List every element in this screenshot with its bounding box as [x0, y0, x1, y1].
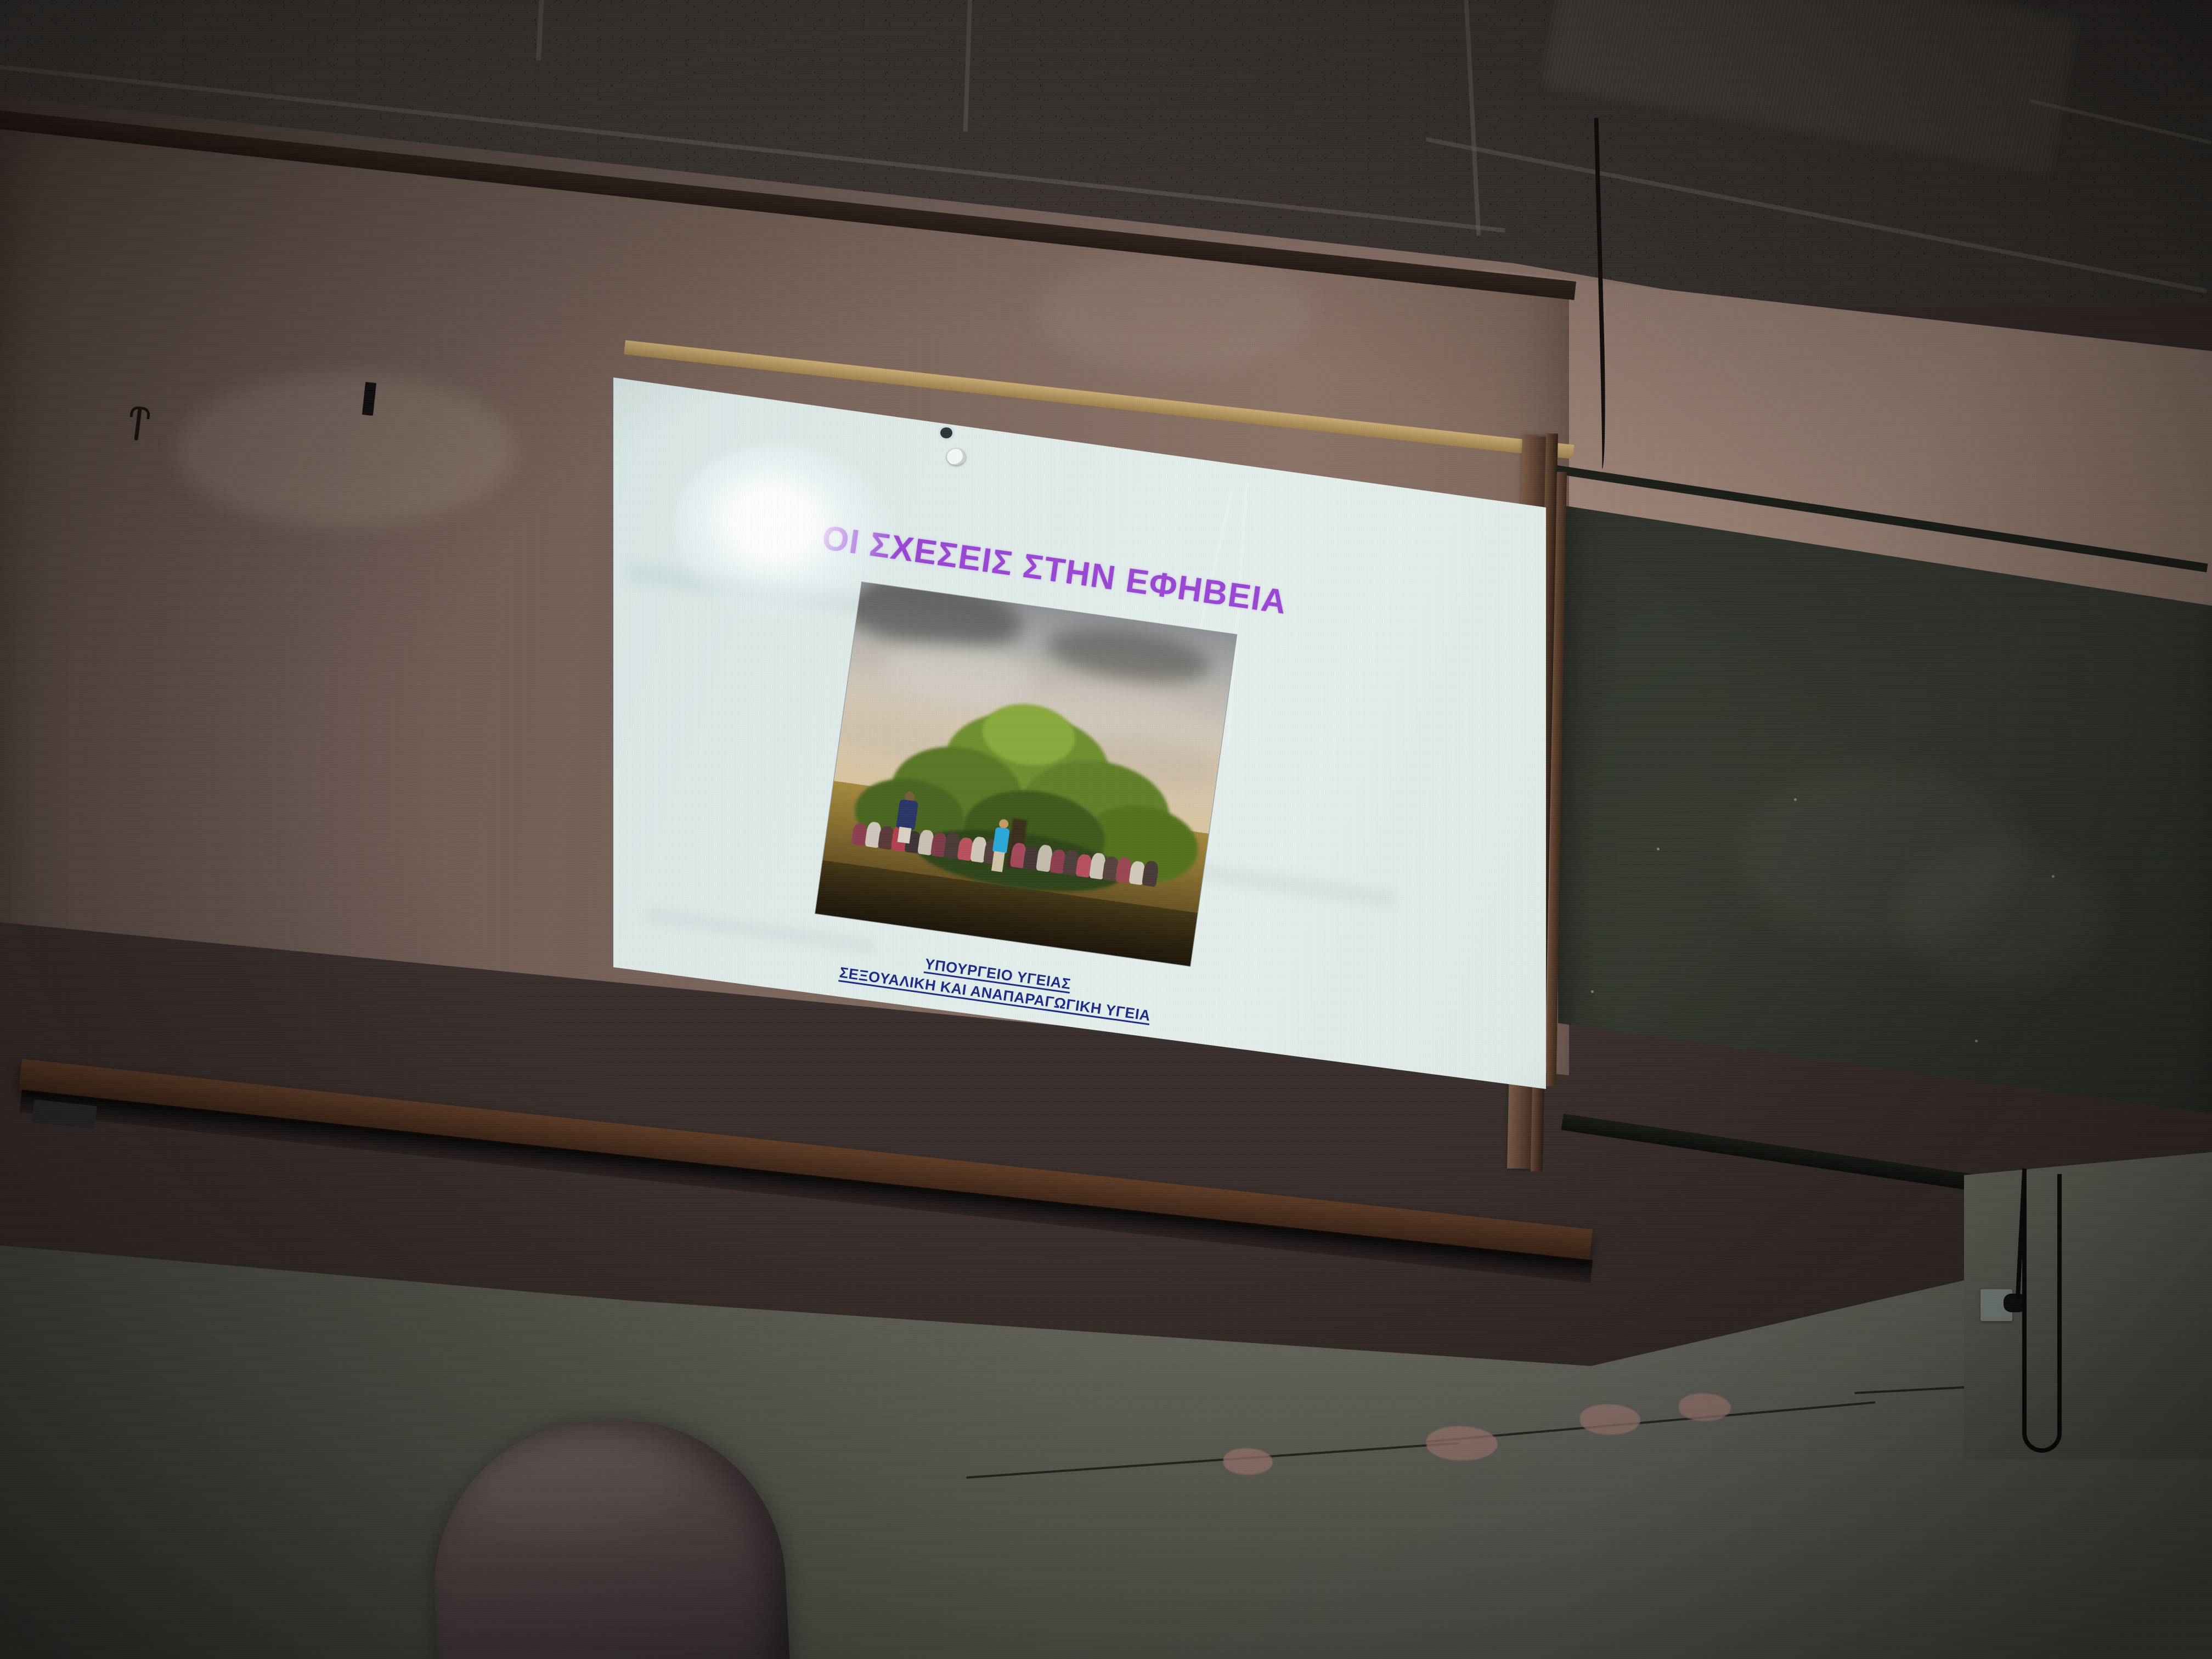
whiteboard-smudge: [176, 373, 516, 527]
wall-crack: [966, 1442, 1459, 1479]
paint-chip: [1580, 1404, 1640, 1435]
man-shorts: [898, 826, 912, 843]
tree-with-children-photo: [815, 582, 1237, 967]
chalk-dot: [2052, 875, 2055, 878]
chalk-smear: [1898, 842, 2107, 985]
man-navy-shirt: [896, 799, 919, 830]
paint-chip: [1223, 1448, 1273, 1475]
chalk-dot: [1591, 990, 1594, 993]
whiteboard-screw-cap: [947, 449, 966, 465]
chalk-dot: [1794, 798, 1797, 801]
woman-shorts: [991, 851, 1005, 872]
chalk-dot: [1657, 848, 1660, 850]
whiteboard-screw-hole: [940, 427, 952, 438]
paint-chip: [1426, 1426, 1498, 1460]
paint-chip: [1679, 1393, 1731, 1421]
whiteboard-smudge: [1037, 252, 1311, 373]
chalk-dot: [1975, 1040, 1978, 1042]
classroom-scene: ΟΙ ΣΧΕΣΕΙΣ ΣΤΗΝ ΕΦΗΒΕΙΑ: [0, 0, 2212, 1659]
child: [1142, 860, 1159, 887]
